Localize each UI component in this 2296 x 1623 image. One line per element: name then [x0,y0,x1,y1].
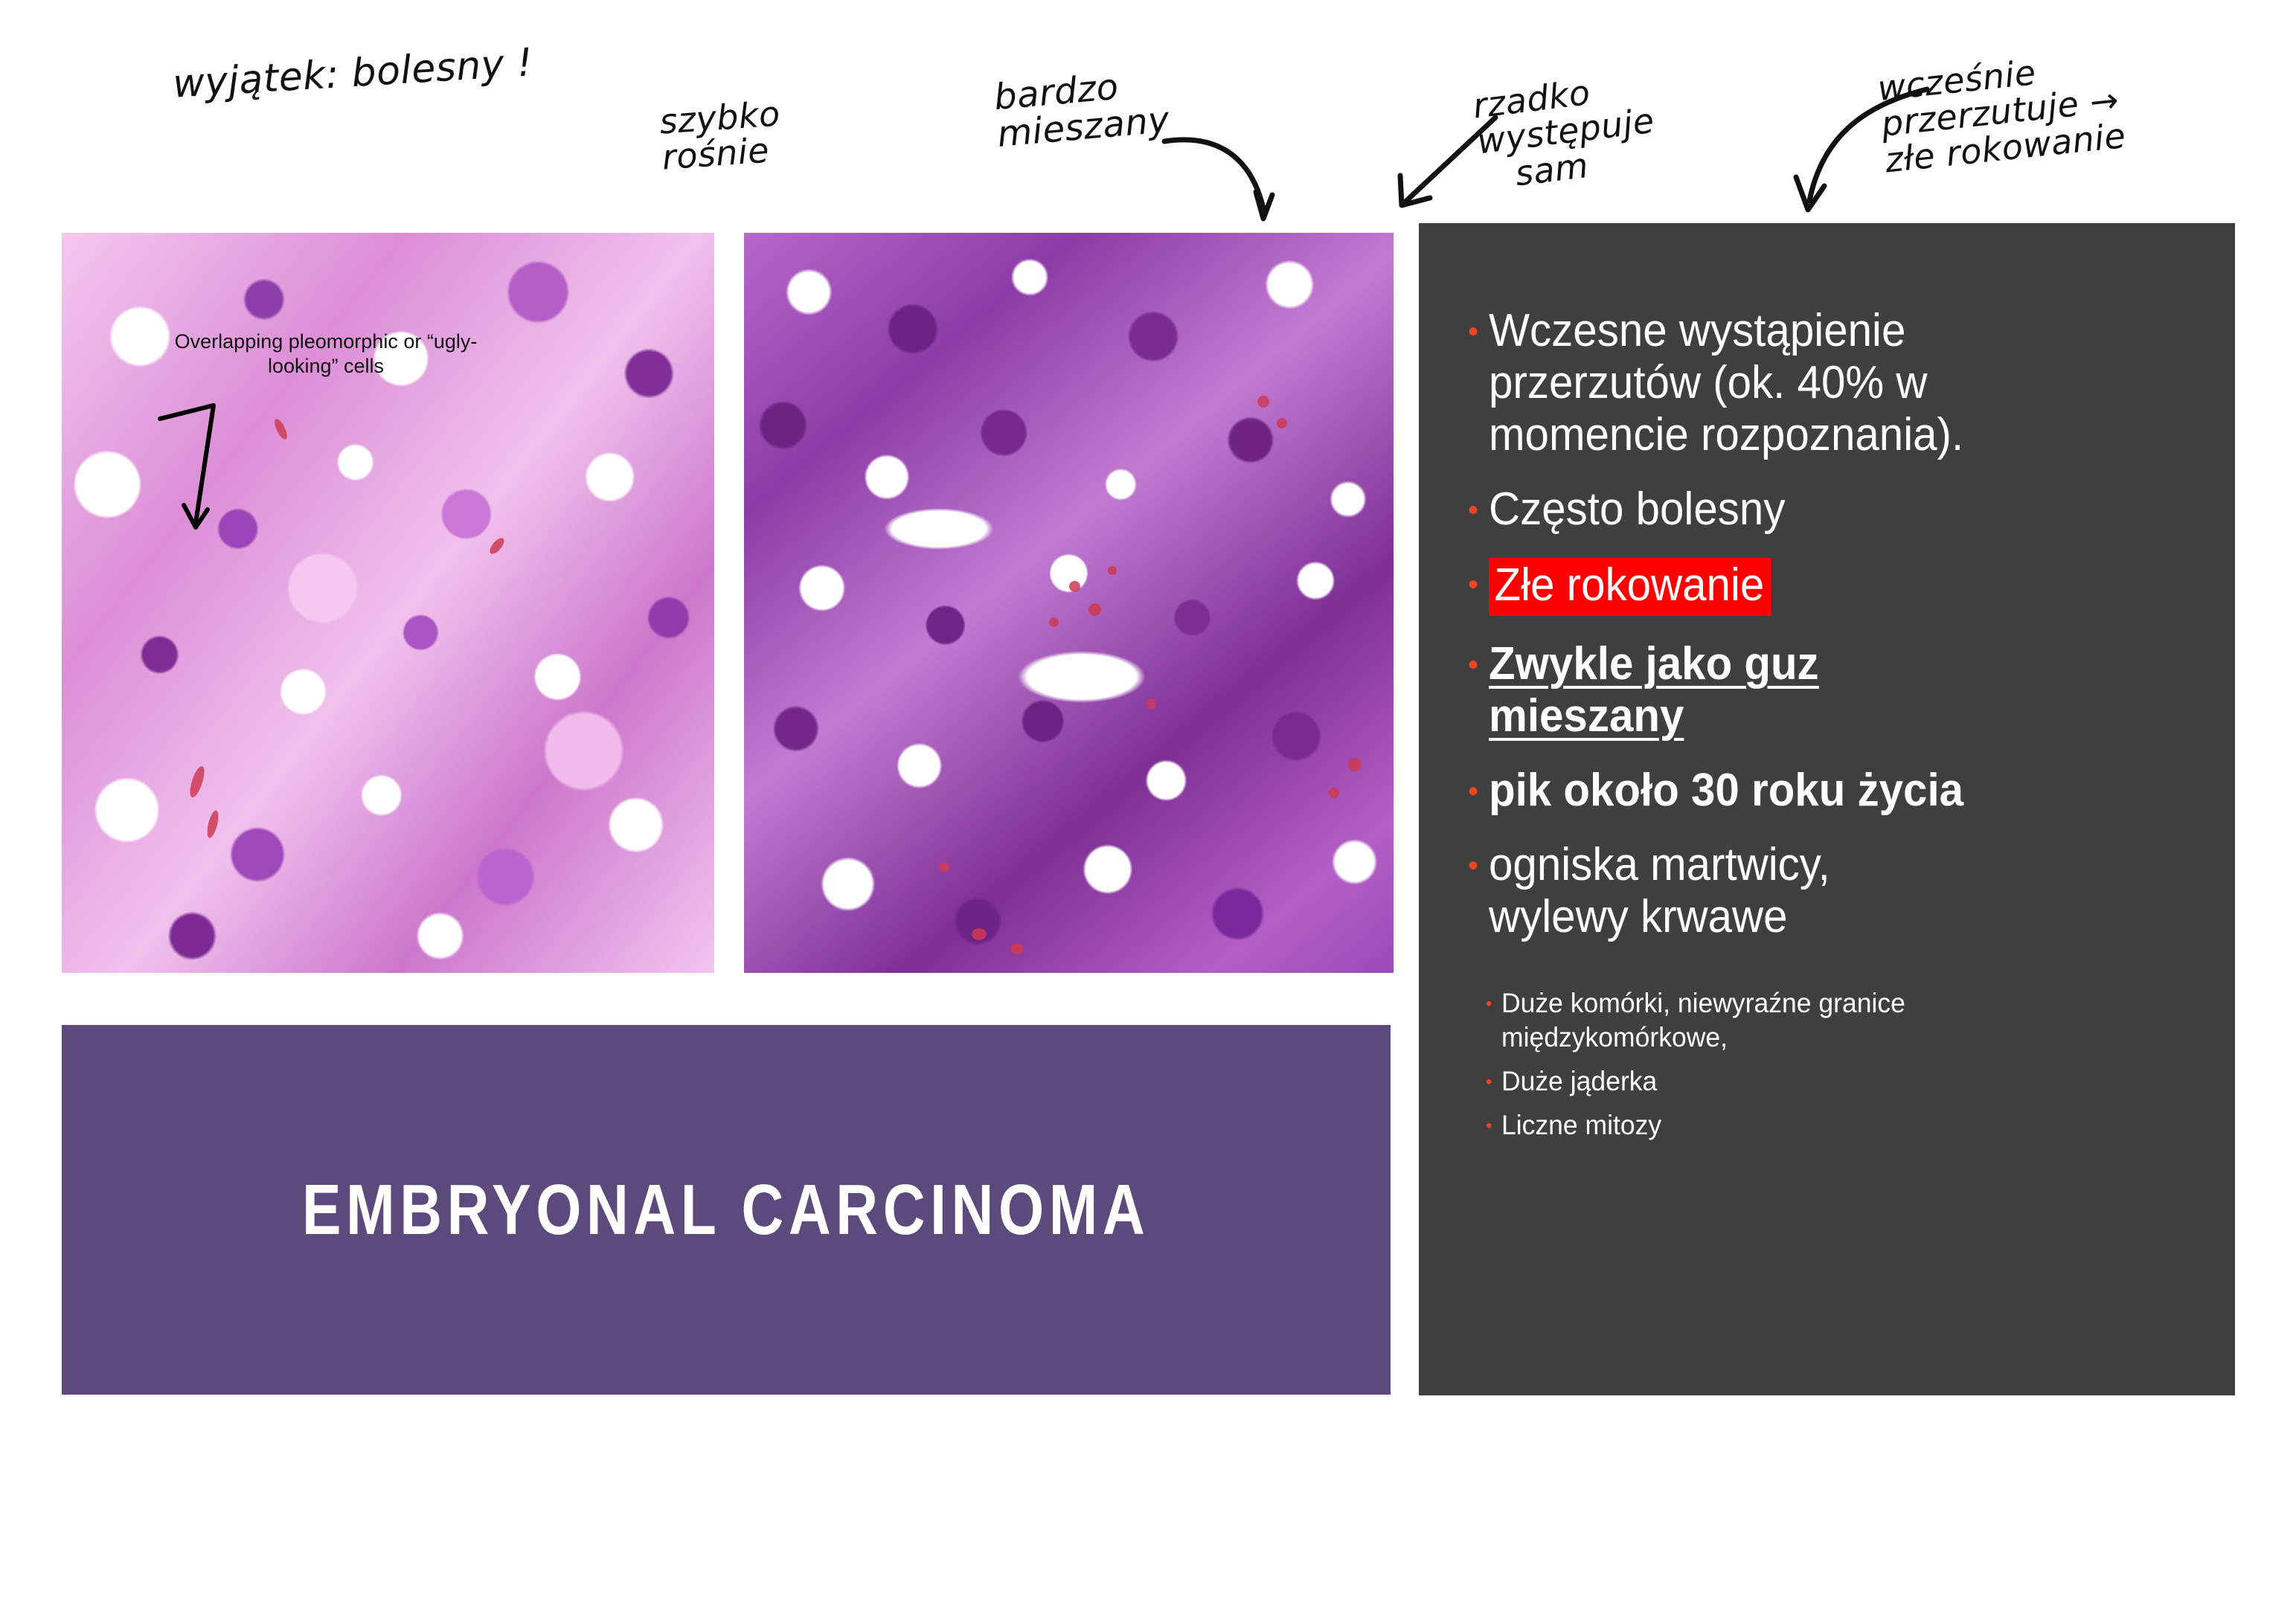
sub-bullet-text: Liczne mitozy [1501,1108,1661,1142]
bullet-text: Wczesne wystąpienie przerzutów (ok. 40% … [1489,305,1963,461]
bullet-text: Często bolesny [1489,483,1785,536]
handwritten-note-wyjatek: wyjątek: bolesny ! [172,42,534,105]
bullet-dot-icon: • [1468,851,1478,881]
main-bullet-list: • Wczesne wystąpienie przerzutów (ok. 40… [1468,305,2190,943]
list-item: • Wczesne wystąpienie przerzutów (ok. 40… [1468,305,2190,461]
bullet-text-underlined: Zwykle jako guz mieszany [1489,638,1819,742]
handwritten-note-rzadko: rzadko występuje sam [1471,67,1661,196]
sub-bullet-text: Duże komórki, niewyraźne granice międzyk… [1501,986,1905,1053]
bullet-dot-icon: • [1468,570,1478,600]
bullet-dot-icon: • [1468,317,1478,347]
micrograph-right-texture [744,233,1394,973]
sub-bullet-text: Duże jąderka [1501,1064,1657,1098]
page-title: EMBRYONAL CARCINOMA [302,1169,1149,1251]
micrograph-right[interactable] [744,233,1394,973]
bullet-text: ogniska martwicy, wylewy krwawe [1489,839,1830,943]
micrograph-left[interactable]: Overlapping pleomorphic or “ugly-looking… [62,233,714,973]
list-item: • Liczne mitozy [1486,1108,2190,1142]
bullet-dot-icon: • [1468,650,1478,680]
list-item: • ogniska martwicy, wylewy krwawe [1468,839,2190,943]
bullet-text-highlighted: Złe rokowanie [1489,558,1771,616]
curved-arrow-down-icon [1161,126,1354,238]
title-block: EMBRYONAL CARCINOMA [62,1025,1391,1395]
info-panel: • Wczesne wystąpienie przerzutów (ok. 40… [1419,223,2235,1395]
list-item-highlighted: • Złe rokowanie [1468,558,2190,616]
micrograph-left-label: Overlapping pleomorphic or “ugly-looking… [166,330,486,379]
bullet-dot-icon: • [1486,1073,1492,1091]
handwritten-note-wczesnie: wcześnie przerzutuje → złe rokowanie [1876,45,2127,178]
list-item: • Duże komórki, niewyraźne granice międz… [1486,986,2190,1053]
slide-canvas: wyjątek: bolesny ! szybko rośnie bardzo … [0,0,2296,1623]
list-item: • Często bolesny [1468,483,2190,536]
sub-bullet-list: • Duże komórki, niewyraźne granice międz… [1468,986,2190,1142]
list-item-underlined: • Zwykle jako guz mieszany [1468,638,2190,742]
list-item: • Duże jąderka [1486,1064,2190,1098]
bullet-dot-icon: • [1468,777,1478,806]
handwritten-note-szybko: szybko rośnie [658,95,784,176]
arrow-icon [151,374,285,538]
bullet-text: pik około 30 roku życia [1489,765,1963,817]
bullet-dot-icon: • [1486,995,1492,1013]
list-item: • pik około 30 roku życia [1468,765,2190,817]
handwritten-note-bardzo: bardzo mieszany [993,64,1171,154]
bullet-dot-icon: • [1486,1117,1492,1135]
bullet-dot-icon: • [1468,495,1478,525]
